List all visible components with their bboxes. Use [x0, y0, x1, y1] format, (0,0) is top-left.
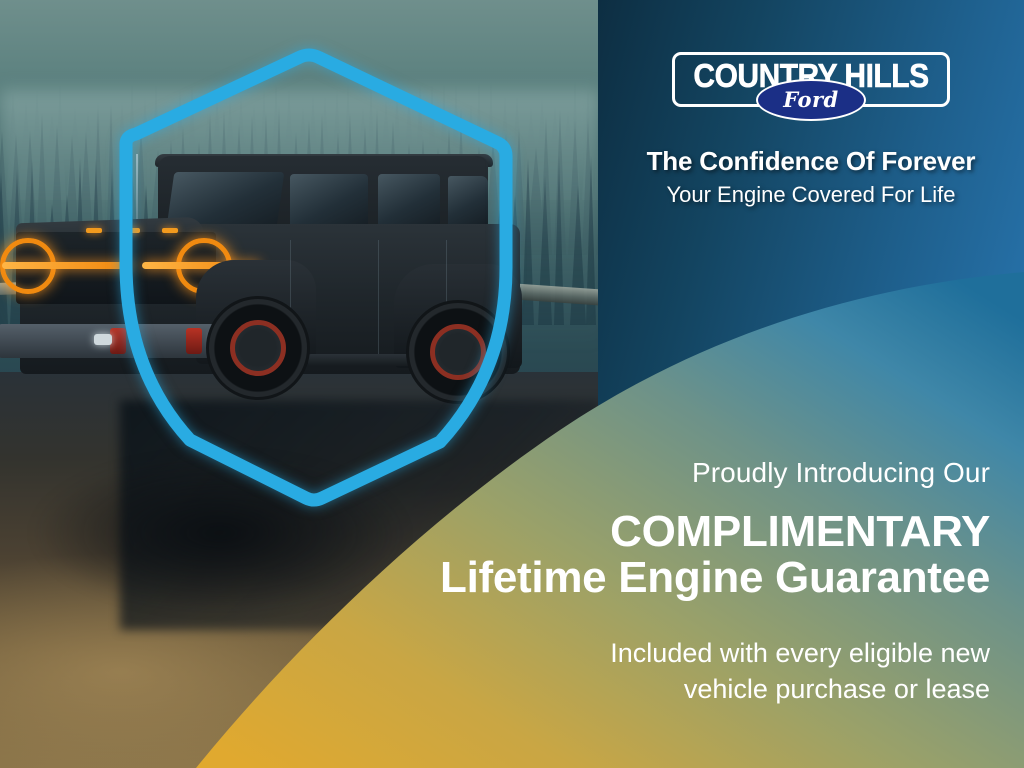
rear-wheel-rim — [430, 324, 486, 380]
offer-footnote-line2: vehicle purchase or lease — [330, 672, 990, 708]
dealer-logo: COUNTRY HILLS Ford — [598, 52, 1024, 107]
door-seam — [378, 240, 379, 360]
tagline-subhead: Your Engine Covered For Life — [598, 182, 1024, 208]
offer-block: Proudly Introducing Our COMPLIMENTARY Li… — [330, 458, 990, 707]
grille-marker-light — [124, 228, 140, 233]
headlight-bar-left — [2, 262, 132, 269]
quarter-glass — [448, 176, 488, 228]
offer-title-line1: COMPLIMENTARY — [330, 509, 990, 556]
offer-footnote: Included with every eligible new vehicle… — [330, 636, 990, 707]
bronco-raptor-vehicle — [0, 128, 550, 418]
ford-wordmark: Ford — [783, 89, 839, 110]
promo-banner: COUNTRY HILLS Ford The Confidence Of For… — [0, 0, 1024, 768]
tagline-block: The Confidence Of Forever Your Engine Co… — [598, 146, 1024, 208]
offer-kicker: Proudly Introducing Our — [330, 458, 990, 489]
grille-marker-light — [162, 228, 178, 233]
ford-oval-icon: Ford — [756, 79, 866, 121]
offer-footnote-line1: Included with every eligible new — [330, 636, 990, 672]
logo-plate: COUNTRY HILLS Ford — [672, 52, 949, 107]
rear-door-glass — [378, 174, 440, 230]
bumper-red-light — [186, 328, 202, 354]
tagline-headline: The Confidence Of Forever — [598, 146, 1024, 177]
offer-title-line2: Lifetime Engine Guarantee — [330, 555, 990, 602]
fog-lamp — [94, 334, 112, 345]
bumper-red-light — [110, 328, 126, 354]
rock-rail-step — [308, 354, 418, 366]
grille-marker-light — [86, 228, 102, 233]
front-wheel-rim — [230, 320, 286, 376]
